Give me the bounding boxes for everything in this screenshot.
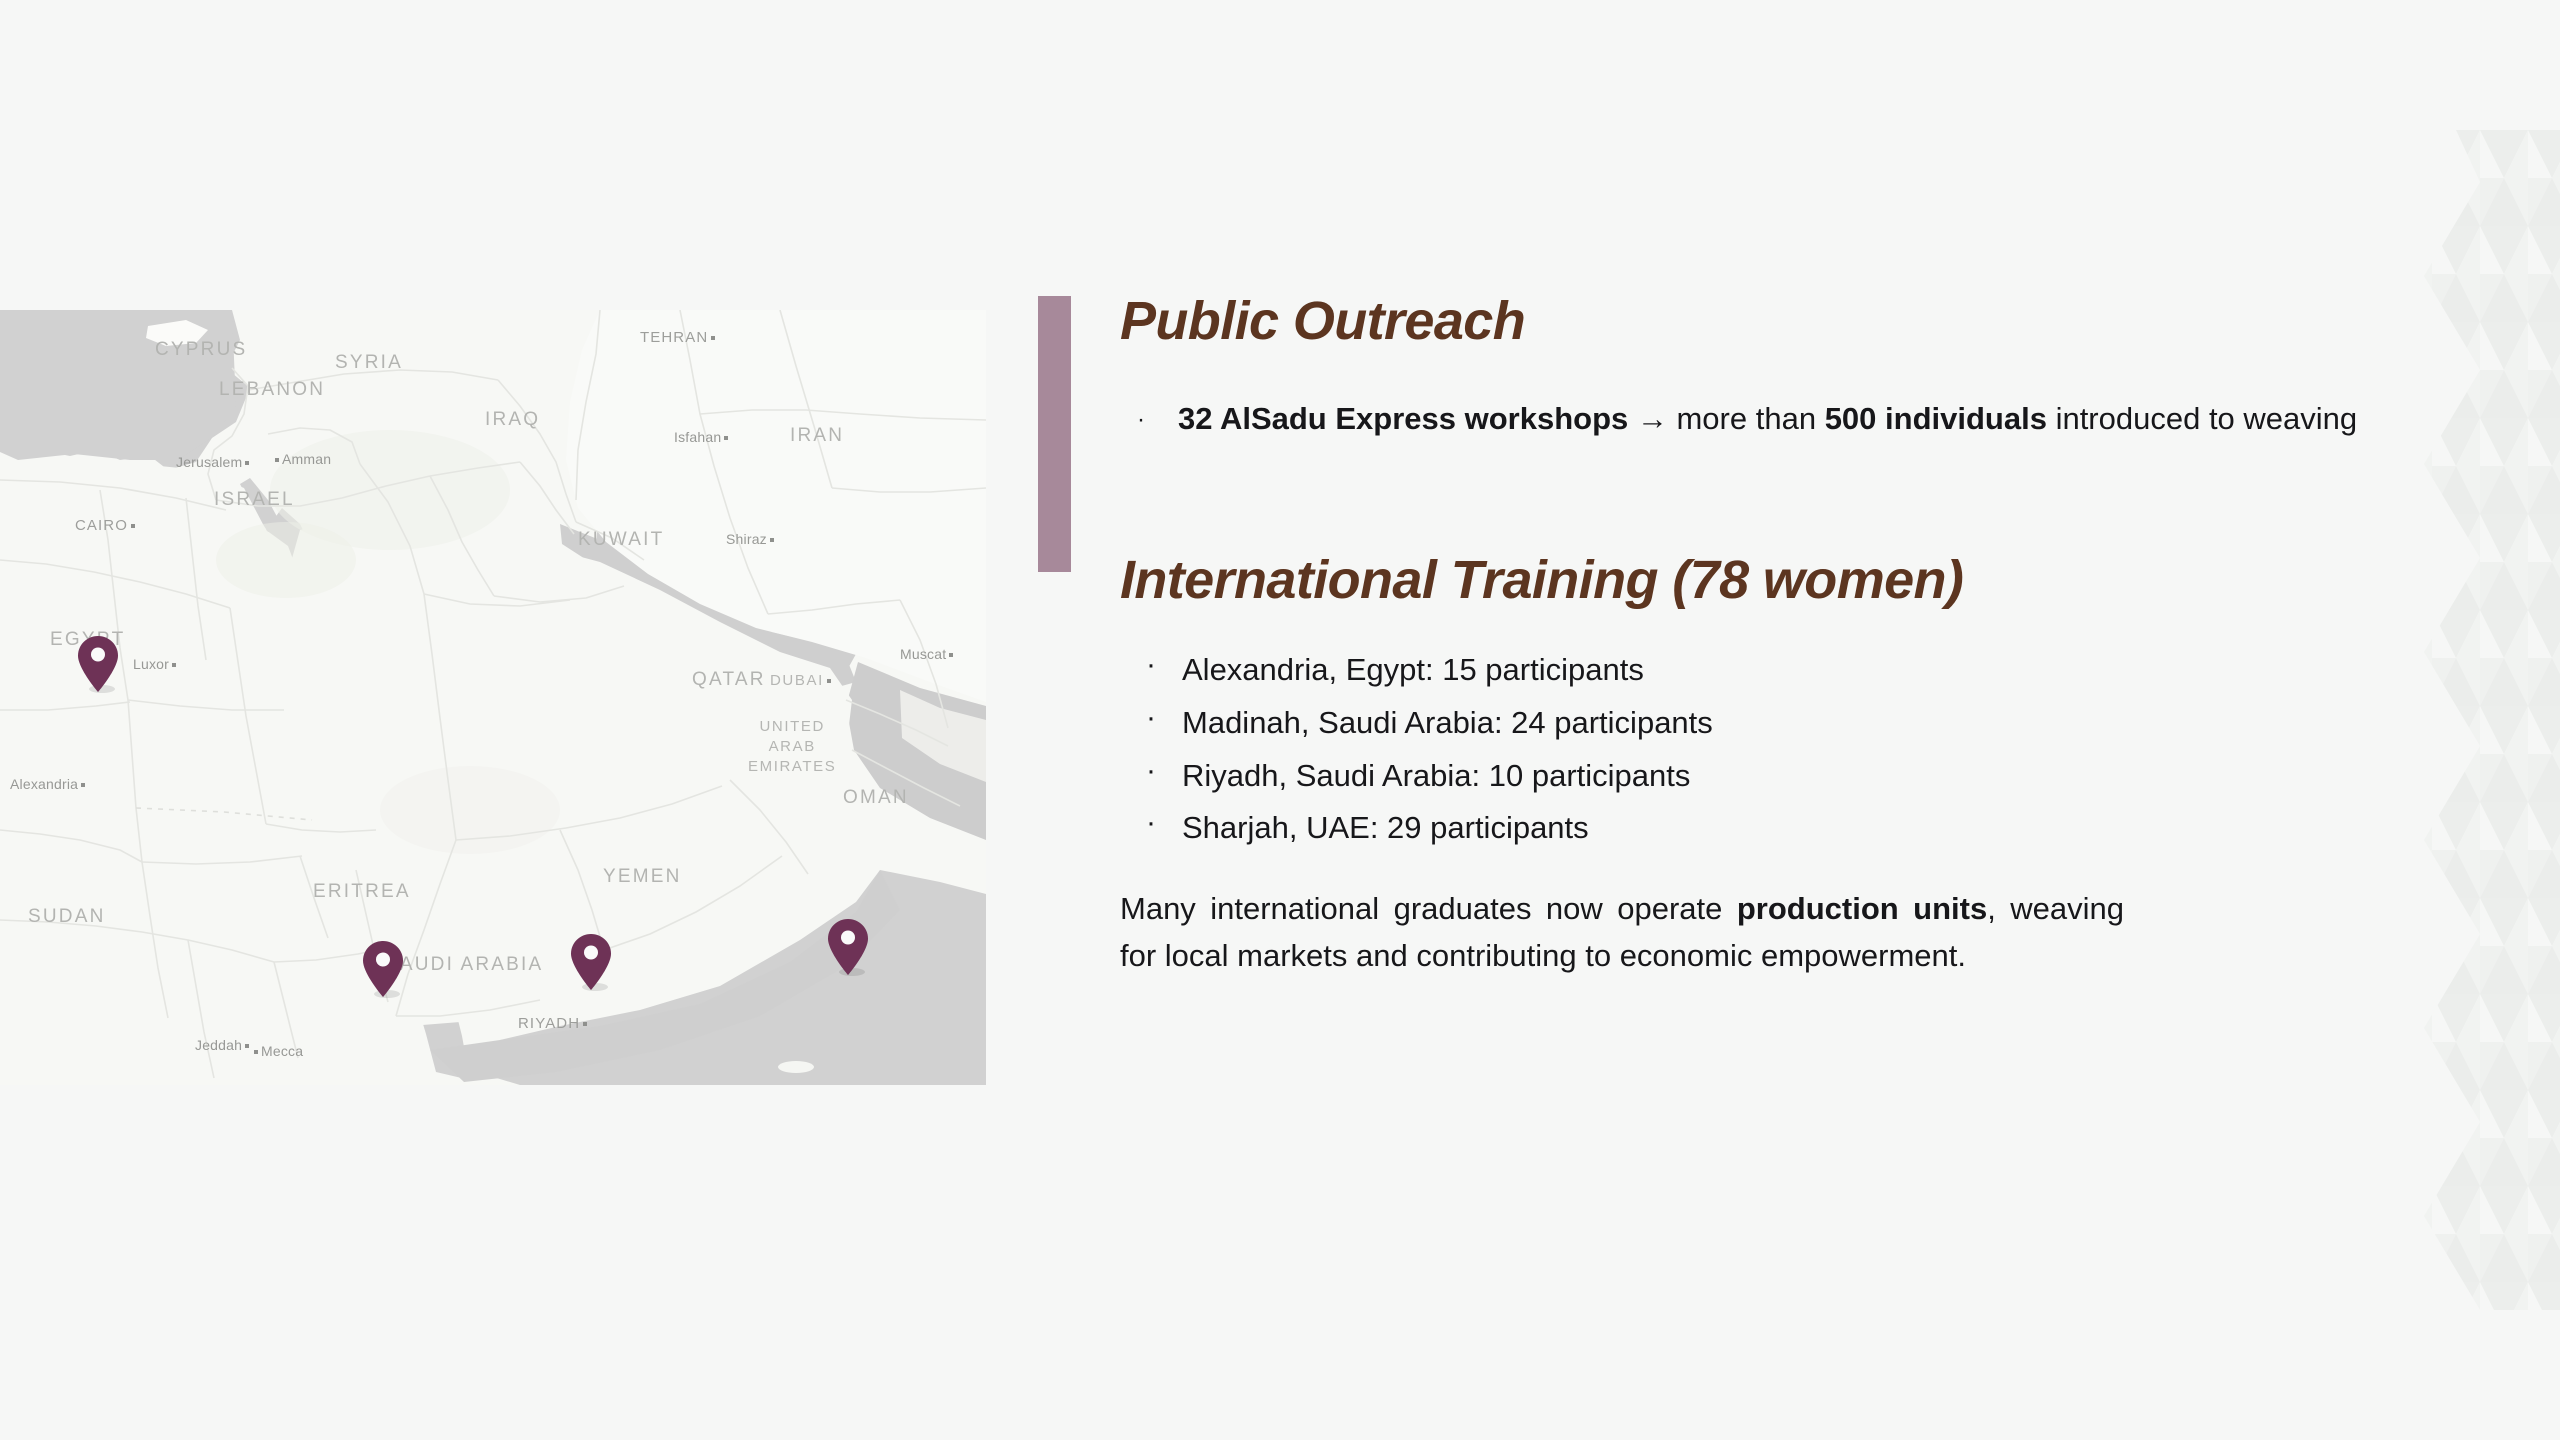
closing-paragraph: Many international graduates now operate… — [1120, 885, 2124, 979]
closing-bold-text: production units — [1737, 891, 1987, 926]
public-outreach-section: Public Outreach ·32 AlSadu Express works… — [1038, 292, 2418, 443]
outreach-bold-mid: 500 individuals — [1825, 401, 2047, 436]
closing-pre-text: Many international graduates now operate — [1120, 891, 1737, 926]
content-column: Public Outreach ·32 AlSadu Express works… — [1038, 292, 2418, 980]
outreach-arrow-icon: → — [1637, 401, 1668, 436]
outreach-bullet: ·32 AlSadu Express workshops → more than… — [1120, 395, 2418, 442]
list-item: Sharjah, UAE: 29 participants — [1120, 812, 2418, 865]
list-item: Madinah, Saudi Arabia: 24 participants — [1120, 707, 2418, 760]
outreach-tail-text: introduced to weaving — [2047, 401, 2357, 436]
bullet-marker: · — [1120, 402, 1162, 438]
public-outreach-heading: Public Outreach — [1120, 292, 2418, 351]
training-locations-list: Alexandria, Egypt: 15 participants Madin… — [1120, 654, 2418, 865]
map-canvas — [0, 310, 986, 1085]
map-panel[interactable]: CYPRUS SYRIA LEBANON ISRAEL IRAQ IRAN EG… — [0, 310, 986, 1085]
list-item: Riyadh, Saudi Arabia: 10 participants — [1120, 760, 2418, 813]
outreach-mid-text: more than — [1668, 401, 1825, 436]
international-training-section: International Training (78 women) Alexan… — [1038, 551, 2418, 980]
international-training-heading: International Training (78 women) — [1120, 551, 2418, 610]
list-item: Alexandria, Egypt: 15 participants — [1120, 654, 2418, 707]
outreach-bold-lead: 32 AlSadu Express workshops — [1178, 401, 1628, 436]
